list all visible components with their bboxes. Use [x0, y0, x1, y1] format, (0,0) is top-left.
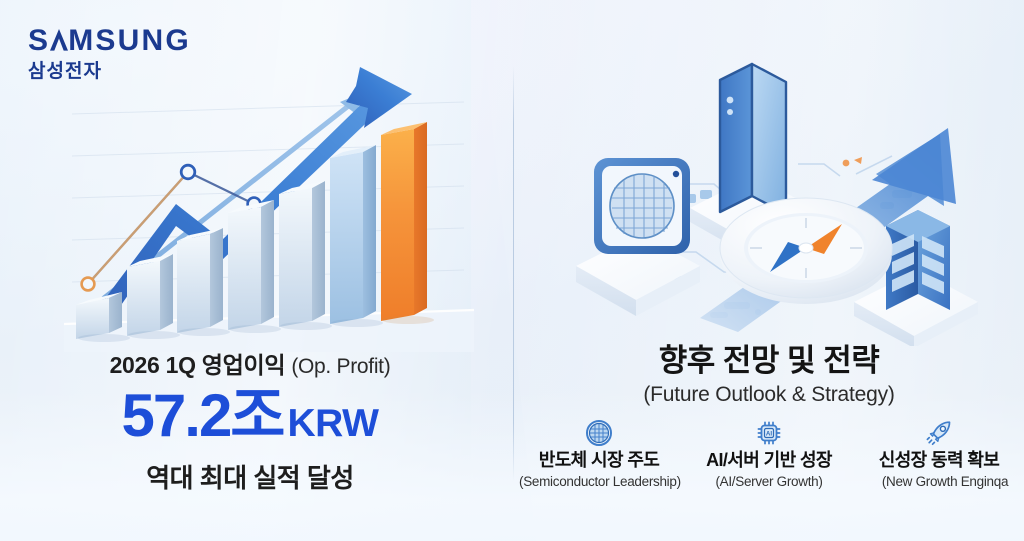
kpi-text-block: 2026 1Q 영업이익 (Op. Profit) 57.2조 KRW 역대 최… — [0, 352, 500, 495]
chart-bar-highlight-orange — [381, 122, 427, 321]
wordmark-letter-a — [50, 28, 68, 50]
outlook-subtitle: (Future Outlook & Strategy) — [514, 383, 1024, 407]
infographic-canvas: SMSUNG 삼성전자 — [0, 0, 1024, 541]
outlook-text-block: 향후 전망 및 전략 (Future Outlook & Strategy) — [514, 344, 1024, 407]
outlook-title: 향후 전망 및 전략 — [514, 344, 1024, 378]
pillar-new-growth-engines: 신성장 동력 확보 (New Growth Enginqa — [859, 418, 1019, 489]
wordmark-letter-u: U — [118, 26, 142, 56]
wordmark-letter-s1: S — [28, 26, 50, 56]
samsung-wordmark: SMSUNG — [28, 26, 191, 56]
pillar-label-ko: 반도체 시장 주도 — [519, 450, 679, 471]
kpi-label: 2026 1Q 영업이익 (Op. Profit) — [0, 352, 500, 379]
chart-bar — [228, 200, 274, 330]
chart-bar — [127, 254, 173, 336]
growth-bar-chart — [64, 62, 474, 352]
strategy-illustration — [524, 56, 1024, 346]
wordmark-letter-n: N — [142, 26, 166, 56]
kpi-label-ko: 2026 1Q 영업이익 — [110, 352, 286, 378]
trend-marker-dot — [181, 165, 195, 179]
rocket-icon — [859, 418, 1019, 448]
pillar-semiconductor-leadership: 반도체 시장 주도 (Semiconductor Leadership) — [519, 418, 679, 489]
trend-marker-dot — [82, 278, 95, 291]
semiconductor-wafer-icon — [576, 158, 700, 316]
kpi-label-en: (Op. Profit) — [291, 355, 390, 378]
kpi-value-number: 57.2조 — [122, 386, 284, 446]
wordmark-letter-s2: S — [95, 26, 117, 56]
compass-icon — [720, 198, 892, 304]
kpi-value: 57.2조 KRW — [0, 386, 500, 446]
kpi-subtitle: 역대 최대 실적 달성 — [0, 458, 500, 495]
pillar-label-en: (Semiconductor Leadership) — [519, 474, 679, 489]
wordmark-letter-m: M — [68, 26, 95, 56]
wordmark-letter-g: G — [165, 26, 191, 56]
pillar-label-en: (AI/Server Growth) — [689, 474, 849, 489]
pillar-label-ko: AI/서버 기반 성장 — [689, 450, 849, 471]
pillar-ai-server-growth: AI — [689, 418, 849, 489]
ai-chip-icon: AI — [689, 418, 849, 448]
chart-bar — [279, 181, 325, 327]
svg-text:AI: AI — [766, 431, 772, 438]
wafer-grid-icon — [519, 418, 679, 448]
chart-bar-highlight-blue — [330, 145, 376, 324]
chart-bar — [177, 228, 223, 333]
pillar-label-en: (New Growth Enginqa — [865, 474, 1024, 489]
pillar-label-ko: 신성장 동력 확보 — [859, 450, 1019, 471]
kpi-value-unit: KRW — [288, 404, 379, 443]
strategy-pillars: 반도체 시장 주도 (Semiconductor Leadership) AI — [514, 418, 1024, 489]
